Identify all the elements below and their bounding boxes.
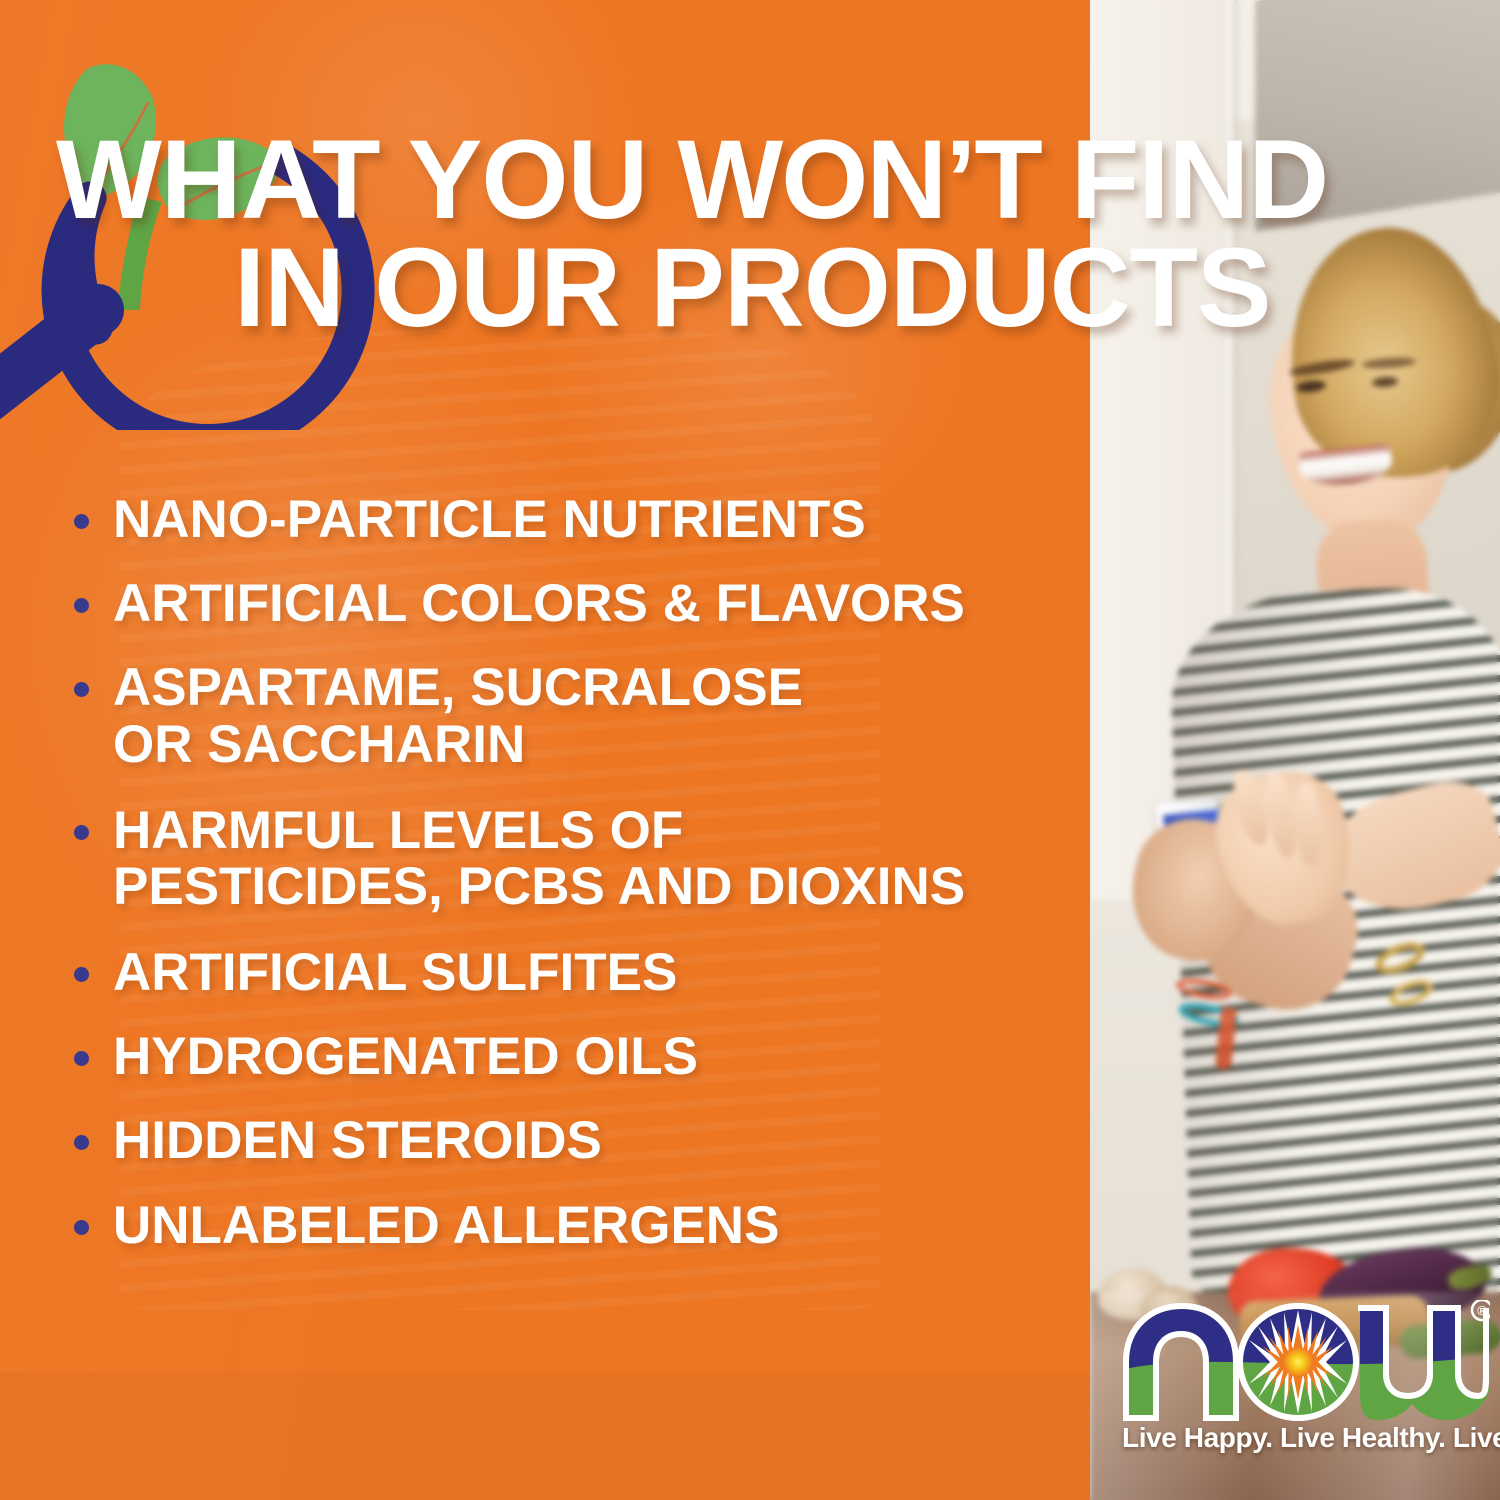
- list-item-text: UNLABELED ALLERGENS: [113, 1198, 779, 1254]
- list-item-text: HARMFUL LEVELS OF PESTICIDES, PCBS AND D…: [113, 803, 965, 915]
- list-item-text: HYDROGENATED OILS: [113, 1029, 698, 1085]
- list-item-line: NANO-PARTICLE NUTRIENTS: [113, 492, 866, 548]
- list-item: ARTIFICIAL SULFITES: [74, 945, 1084, 1001]
- bullet-dot-icon: [74, 825, 89, 840]
- svg-text:®: ®: [1477, 1303, 1487, 1318]
- list-item-line: ARTIFICIAL SULFITES: [113, 945, 677, 1001]
- list-item: ASPARTAME, SUCRALOSE OR SACCHARIN: [74, 660, 1084, 772]
- bullet-dot-icon: [74, 967, 89, 982]
- list-item-text: ARTIFICIAL SULFITES: [113, 945, 677, 1001]
- list-item: ARTIFICIAL COLORS & FLAVORS: [74, 576, 1084, 632]
- list-item-line: ARTIFICIAL COLORS & FLAVORS: [113, 576, 965, 632]
- list-item: NANO-PARTICLE NUTRIENTS: [74, 492, 1084, 548]
- list-item: HYDROGENATED OILS: [74, 1029, 1084, 1085]
- list-item-text: NANO-PARTICLE NUTRIENTS: [113, 492, 866, 548]
- bullet-dot-icon: [74, 1135, 89, 1150]
- list-item-line: OR SACCHARIN: [113, 717, 803, 773]
- now-brand-logo: ®: [1120, 1300, 1490, 1428]
- list-item-line: PESTICIDES, PCBS AND DIOXINS: [113, 859, 965, 915]
- list-item-line: ASPARTAME, SUCRALOSE: [113, 660, 803, 716]
- list-item: UNLABELED ALLERGENS: [74, 1198, 1084, 1254]
- exclusion-list: NANO-PARTICLE NUTRIENTS ARTIFICIAL COLOR…: [74, 492, 1084, 1282]
- headline-emphasis-wont: WON’T: [678, 117, 1041, 242]
- list-item-line: UNLABELED ALLERGENS: [113, 1198, 779, 1254]
- brand-tagline: Live Happy. Live Healthy. Live NOW.: [1122, 1422, 1488, 1454]
- headline: WHAT YOU WON’T FIND IN OUR PRODUCTS: [56, 128, 1476, 340]
- promotional-poster: WHAT YOU WON’T FIND IN OUR PRODUCTS NANO…: [0, 0, 1500, 1500]
- list-item: HIDDEN STEROIDS: [74, 1113, 1084, 1169]
- headline-line-1-part-a: WHAT YOU: [56, 117, 678, 242]
- bullet-dot-icon: [74, 514, 89, 529]
- headline-line-1-part-b: FIND: [1041, 117, 1328, 242]
- bullet-dot-icon: [74, 598, 89, 613]
- list-item-line: HIDDEN STEROIDS: [113, 1113, 602, 1169]
- headline-line-2: IN OUR PRODUCTS: [234, 236, 1476, 340]
- list-item-text: ARTIFICIAL COLORS & FLAVORS: [113, 576, 965, 632]
- bullet-dot-icon: [74, 682, 89, 697]
- list-item-line: HARMFUL LEVELS OF: [113, 803, 965, 859]
- background-ghost-counter: [0, 1372, 1090, 1500]
- list-item-text: ASPARTAME, SUCRALOSE OR SACCHARIN: [113, 660, 803, 772]
- list-item: HARMFUL LEVELS OF PESTICIDES, PCBS AND D…: [74, 803, 1084, 915]
- headline-line-1: WHAT YOU WON’T FIND: [56, 128, 1476, 232]
- list-item-text: HIDDEN STEROIDS: [113, 1113, 602, 1169]
- bullet-dot-icon: [74, 1051, 89, 1066]
- list-item-line: HYDROGENATED OILS: [113, 1029, 698, 1085]
- bullet-dot-icon: [74, 1220, 89, 1235]
